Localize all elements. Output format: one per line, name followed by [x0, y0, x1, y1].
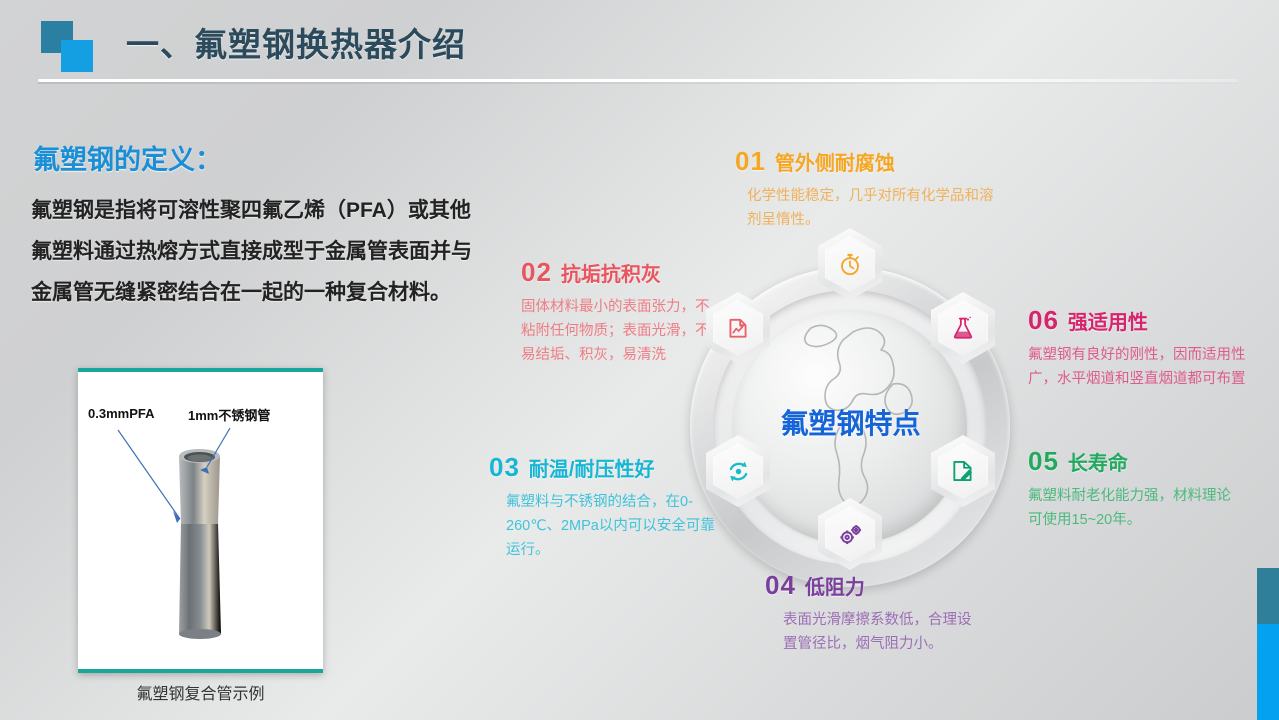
feature-02-number: 02 [521, 257, 552, 287]
hex-node-flask[interactable] [931, 292, 995, 364]
feature-02-body: 固体材料最小的表面张力，不粘附任何物质；表面光滑，不易结垢、积灰，易清洗 [521, 295, 711, 367]
feature-05-number: 05 [1028, 446, 1059, 476]
slide: 一、氟塑钢换热器介绍 氟塑钢的定义： 氟塑钢是指将可溶性聚四氟乙烯（PFA）或其… [0, 0, 1279, 720]
edit-document-icon [950, 458, 976, 484]
feature-04: 04低阻力 表面光滑摩擦系数低，合理设置管径比，烟气阻力小。 [765, 570, 985, 656]
feature-06-number: 06 [1028, 305, 1059, 335]
feature-06-head: 06强适用性 [1028, 305, 1258, 336]
feature-02-head: 02抗垢抗积灰 [521, 257, 711, 288]
definition-heading: 氟塑钢的定义： [33, 138, 222, 177]
chart-document-icon [725, 315, 751, 341]
feature-03-number: 03 [489, 452, 520, 482]
feature-01: 01管外侧耐腐蚀 化学性能稳定，几乎对所有化学品和溶剂呈惰性。 [735, 146, 995, 232]
flask-icon [950, 315, 976, 341]
feature-04-number: 04 [765, 570, 796, 600]
hex-node-gears[interactable] [818, 498, 882, 570]
hex-node-recycle[interactable] [706, 435, 770, 507]
feature-02: 02抗垢抗积灰 固体材料最小的表面张力，不粘附任何物质；表面光滑，不易结垢、积灰… [521, 257, 711, 367]
feature-01-body: 化学性能稳定，几乎对所有化学品和溶剂呈惰性。 [747, 184, 995, 232]
feature-06-body: 氟塑钢有良好的刚性，因而适用性广，水平烟道和竖直烟道都可布置 [1028, 343, 1258, 391]
feature-03-head: 03耐温/耐压性好 [489, 452, 719, 483]
definition-paragraph: 氟塑钢是指将可溶性聚四氟乙烯（PFA）或其他氟塑料通过热熔方式直接成型于金属管表… [31, 190, 491, 313]
hex-node-edit[interactable] [931, 435, 995, 507]
photo-label-pfa: 0.3mmPFA [88, 406, 154, 421]
feature-02-title: 抗垢抗积灰 [561, 264, 661, 286]
edge-tab-top [1257, 568, 1279, 624]
gears-icon [837, 521, 864, 548]
photo-label-steel: 1mm不锈钢管 [188, 405, 270, 424]
feature-04-head: 04低阻力 [765, 570, 985, 601]
hex-node-chart-doc[interactable] [706, 292, 770, 364]
feature-06: 06强适用性 氟塑钢有良好的刚性，因而适用性广，水平烟道和竖直烟道都可布置 [1028, 305, 1258, 391]
feature-01-number: 01 [735, 146, 766, 176]
page-title: 一、氟塑钢换热器介绍 [126, 18, 466, 66]
feature-05-title: 长寿命 [1068, 453, 1128, 475]
feature-05-head: 05长寿命 [1028, 446, 1243, 477]
photo-accent-bottom [78, 669, 323, 673]
feature-04-body: 表面光滑摩擦系数低，合理设置管径比，烟气阻力小。 [783, 608, 985, 656]
pipe-photo-card: 0.3mmPFA 1mm不锈钢管 [78, 368, 323, 673]
feature-03: 03耐温/耐压性好 氟塑料与不锈钢的结合，在0-260℃、2MPa以内可以安全可… [489, 452, 719, 562]
stopwatch-icon [837, 251, 863, 277]
feature-05-body: 氟塑料耐老化能力强，材料理论可使用15~20年。 [1028, 484, 1243, 532]
feature-01-title: 管外侧耐腐蚀 [775, 153, 895, 175]
feature-05: 05长寿命 氟塑料耐老化能力强，材料理论可使用15~20年。 [1028, 446, 1243, 532]
feature-03-body: 氟塑料与不锈钢的结合，在0-260℃、2MPa以内可以安全可靠运行。 [506, 490, 719, 562]
feature-06-title: 强适用性 [1068, 312, 1148, 334]
feature-01-head: 01管外侧耐腐蚀 [735, 146, 995, 177]
recycle-icon [725, 458, 752, 485]
feature-03-title: 耐温/耐压性好 [529, 459, 655, 481]
header-square-light [61, 40, 93, 72]
feature-04-title: 低阻力 [805, 577, 865, 599]
hex-node-stopwatch[interactable] [818, 228, 882, 300]
photo-caption: 氟塑钢复合管示例 [78, 680, 323, 704]
header-divider-shadow [38, 82, 1238, 84]
edge-tab-bottom [1257, 624, 1279, 720]
pipe-photo: 0.3mmPFA 1mm不锈钢管 [78, 372, 323, 669]
feature-wheel: 氟塑钢特点 [673, 250, 1028, 605]
